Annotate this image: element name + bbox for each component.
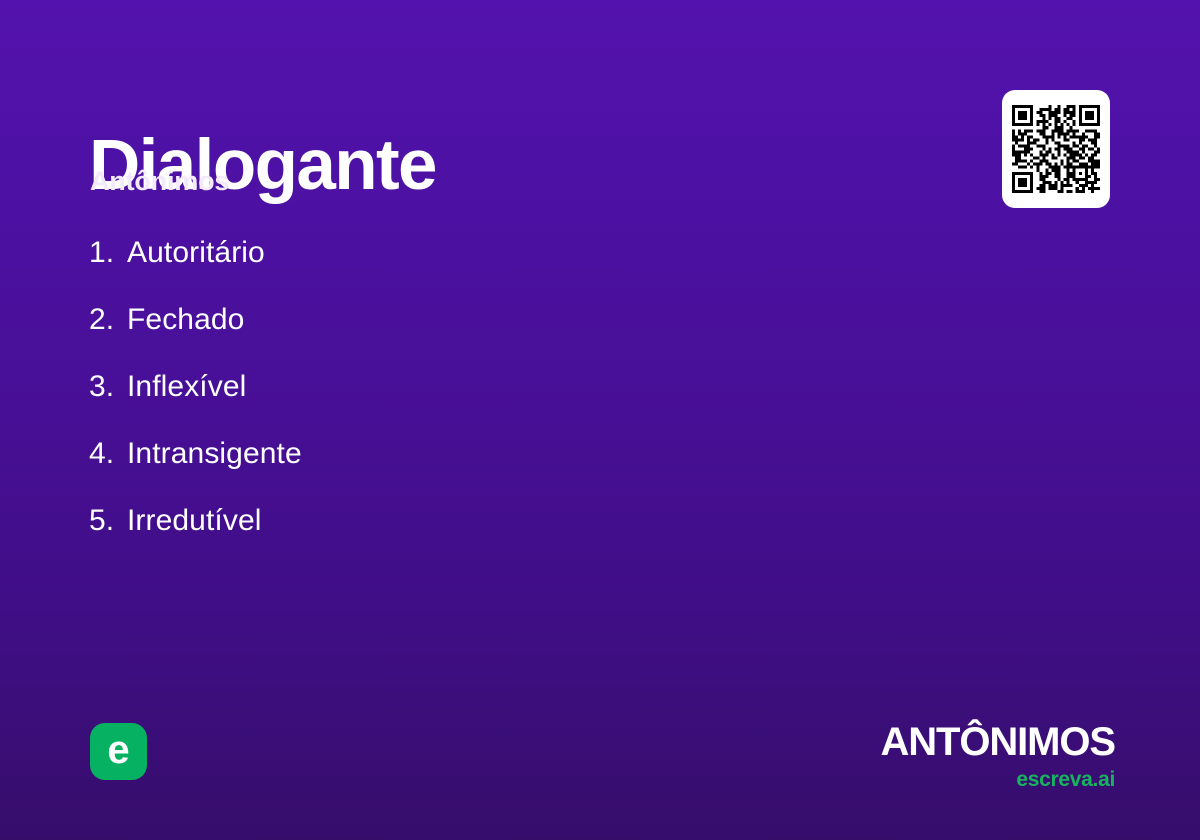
list-item-label: Intransigente: [127, 437, 302, 470]
antonyms-list: 1.Autoritário 2.Fechado 3.Inflexível 4.I…: [89, 238, 849, 573]
list-item-label: Fechado: [127, 303, 244, 336]
list-item: 2.Fechado: [89, 305, 849, 372]
brand-logo: ANTÔNIMOS escreva.ai: [880, 722, 1115, 790]
list-item: 5.Irredutível: [89, 506, 849, 573]
list-item-index: 3.: [89, 372, 127, 402]
antonyms-card: Dialogante Antônimos 1.Autoritário 2.Fec…: [0, 0, 1200, 840]
list-item-index: 4.: [89, 439, 127, 469]
list-item-index: 5.: [89, 506, 127, 536]
list-item-label: Autoritário: [127, 236, 265, 269]
list-item-label: Irredutível: [127, 504, 262, 537]
list-item: 3.Inflexível: [89, 372, 849, 439]
list-item-index: 2.: [89, 305, 127, 335]
list-item: 4.Intransigente: [89, 439, 849, 506]
escreva-badge-icon[interactable]: e: [90, 723, 147, 780]
brand-name: ANTÔNIMOS: [880, 722, 1115, 762]
brand-sub: escreva.ai: [880, 769, 1115, 790]
list-item-index: 1.: [89, 238, 127, 268]
list-item: 1.Autoritário: [89, 238, 849, 305]
page-subtitle: Antônimos: [90, 168, 229, 195]
qr-code-icon[interactable]: [1002, 90, 1110, 208]
badge-letter: e: [107, 730, 129, 770]
list-item-label: Inflexível: [127, 370, 246, 403]
